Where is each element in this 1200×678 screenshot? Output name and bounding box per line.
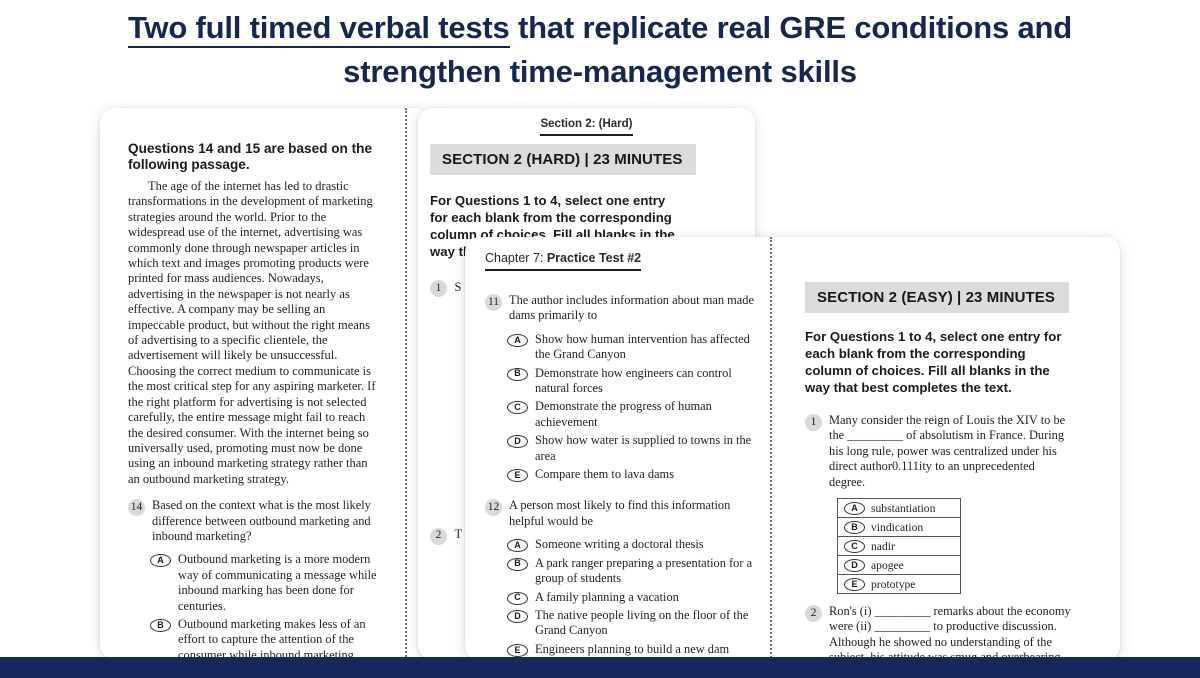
question-easy-2: 2 Ron's (i) _________ remarks about the … — [805, 604, 1095, 661]
choice-text: apogee — [871, 559, 904, 572]
answer-choice[interactable]: C Demonstrate the progress of human achi… — [507, 399, 755, 430]
choice-text: Engineers planning to build a new dam — [535, 642, 729, 657]
question-stem-truncated: S — [451, 280, 461, 294]
question-easy-1: 1 Many consider the reign of Louis the X… — [805, 413, 1095, 490]
answer-choice[interactable]: B A park ranger preparing a presentation… — [507, 556, 755, 587]
choice-text: vindication — [871, 521, 923, 534]
choice-letter-oval: D — [844, 559, 865, 572]
choice-letter-oval: C — [844, 540, 865, 553]
running-head-section: Section 2: (Hard) — [540, 118, 632, 136]
choice-letter-oval: B — [150, 619, 171, 632]
choice-text: Show how water is supplied to towns in t… — [535, 433, 755, 464]
blank-choice-row[interactable]: E prototype — [838, 575, 960, 593]
passage-body: The age of the internet has led to drast… — [128, 179, 380, 487]
choice-letter-oval: B — [507, 368, 528, 381]
choice-letter-oval: E — [507, 469, 528, 482]
blank-choice-row[interactable]: B vindication — [838, 518, 960, 537]
question-stem: Based on the context what is the most li… — [152, 498, 380, 544]
answer-choice-list: A Outbound marketing is a more modern wa… — [150, 552, 380, 660]
question-stem: Many consider the reign of Louis the XIV… — [829, 413, 1069, 490]
question-number-bubble: 2 — [430, 528, 447, 545]
blank-choice-row[interactable]: A substantiation — [838, 499, 960, 518]
answer-choice[interactable]: E Compare them to lava dams — [507, 467, 755, 482]
blank-choice-row[interactable]: C nadir — [838, 537, 960, 556]
question-number-bubble: 14 — [128, 499, 145, 516]
choice-letter-oval: A — [844, 502, 865, 515]
chapter-prefix: Chapter 7: — [485, 251, 547, 265]
page-title-rest: that replicate real GRE conditions and — [510, 10, 1072, 45]
choice-letter-oval: C — [507, 592, 528, 605]
answer-choice[interactable]: E Engineers planning to build a new dam — [507, 642, 755, 657]
choice-letter-oval: B — [507, 558, 528, 571]
answer-choice-list: A Show how human intervention has affect… — [507, 332, 755, 483]
choice-text: Outbound marketing is a more modern way … — [178, 552, 380, 614]
bottom-accent-bar — [0, 657, 1200, 678]
choice-text: A family planning a vacation — [535, 590, 679, 605]
blank-choice-table: A substantiation B vindication C nadir D… — [837, 498, 961, 594]
question-stem: A person most likely to find this inform… — [509, 498, 755, 529]
choice-letter-oval: D — [507, 610, 528, 623]
page-fold-divider — [405, 108, 407, 660]
choice-letter-oval: A — [150, 554, 171, 567]
section-band-hard: SECTION 2 (HARD) | 23 MINUTES — [430, 144, 696, 175]
answer-choice[interactable]: C A family planning a vacation — [507, 590, 755, 605]
question-12: 12 A person most likely to find this inf… — [485, 498, 755, 529]
question-number-bubble: 11 — [485, 294, 502, 311]
choice-letter-oval: C — [507, 401, 528, 414]
page-title-line2: strengthen time-management skills — [343, 54, 857, 89]
card-passage[interactable]: Questions 14 and 15 are based on the fol… — [100, 108, 430, 660]
question-number-bubble: 1 — [805, 414, 822, 431]
choice-letter-oval: E — [844, 578, 865, 591]
choice-letter-oval: E — [507, 644, 528, 657]
choice-text: substantiation — [871, 502, 935, 515]
question-stem: The author includes information about ma… — [509, 293, 755, 324]
answer-choice[interactable]: B Demonstrate how engineers can control … — [507, 366, 755, 397]
choice-letter-oval: A — [507, 539, 528, 552]
answer-choice[interactable]: A Show how human intervention has affect… — [507, 332, 755, 363]
choice-letter-oval: A — [507, 334, 528, 347]
question-number-bubble: 1 — [430, 280, 447, 297]
choice-text: Show how human intervention has affected… — [535, 332, 755, 363]
question-stem: Ron's (i) _________ remarks about the ec… — [829, 604, 1074, 661]
choice-text: nadir — [871, 540, 895, 553]
choice-text: Outbound marketing makes less of an effo… — [178, 617, 380, 660]
blank-choice-row[interactable]: D apogee — [838, 556, 960, 575]
answer-choice[interactable]: D The native people living on the floor … — [507, 608, 755, 639]
answer-choice[interactable]: B Outbound marketing makes less of an ef… — [150, 617, 380, 660]
choice-text: A park ranger preparing a presentation f… — [535, 556, 755, 587]
chapter-title: Practice Test #2 — [547, 251, 641, 265]
choice-letter-oval: D — [507, 435, 528, 448]
choice-text: Demonstrate the progress of human achiev… — [535, 399, 755, 430]
slide-canvas: Two full timed verbal tests that replica… — [0, 0, 1200, 678]
question-14: 14 Based on the context what is the most… — [128, 498, 380, 544]
choice-text: prototype — [871, 578, 915, 591]
choice-text: The native people living on the floor of… — [535, 608, 755, 639]
choice-letter-oval: B — [844, 521, 865, 534]
chapter-label: Chapter 7: Practice Test #2 — [485, 251, 641, 271]
question-stem-truncated: T — [451, 527, 462, 541]
answer-choice[interactable]: A Outbound marketing is a more modern wa… — [150, 552, 380, 614]
question-number-bubble: 2 — [805, 605, 822, 622]
question-number-bubble: 12 — [485, 499, 502, 516]
section-band-easy: SECTION 2 (EASY) | 23 MINUTES — [805, 282, 1069, 313]
choice-text: Compare them to lava dams — [535, 467, 674, 482]
page-title-underlined-part: Two full timed verbal tests — [128, 10, 510, 48]
answer-choice[interactable]: A Someone writing a doctoral thesis — [507, 537, 755, 552]
card-practice-test-2[interactable]: Chapter 7: Practice Test #2 11 The autho… — [465, 237, 1120, 661]
page-title: Two full timed verbal tests that replica… — [0, 6, 1200, 94]
page-fold-divider — [770, 237, 772, 661]
answer-choice-list: A Someone writing a doctoral thesis B A … — [507, 537, 755, 657]
choice-text: Demonstrate how engineers can control na… — [535, 366, 755, 397]
answer-choice[interactable]: D Show how water is supplied to towns in… — [507, 433, 755, 464]
question-11: 11 The author includes information about… — [485, 293, 755, 324]
passage-heading: Questions 14 and 15 are based on the fol… — [128, 141, 380, 173]
directions-easy: For Questions 1 to 4, select one entry f… — [805, 328, 1067, 396]
choice-text: Someone writing a doctoral thesis — [535, 537, 704, 552]
